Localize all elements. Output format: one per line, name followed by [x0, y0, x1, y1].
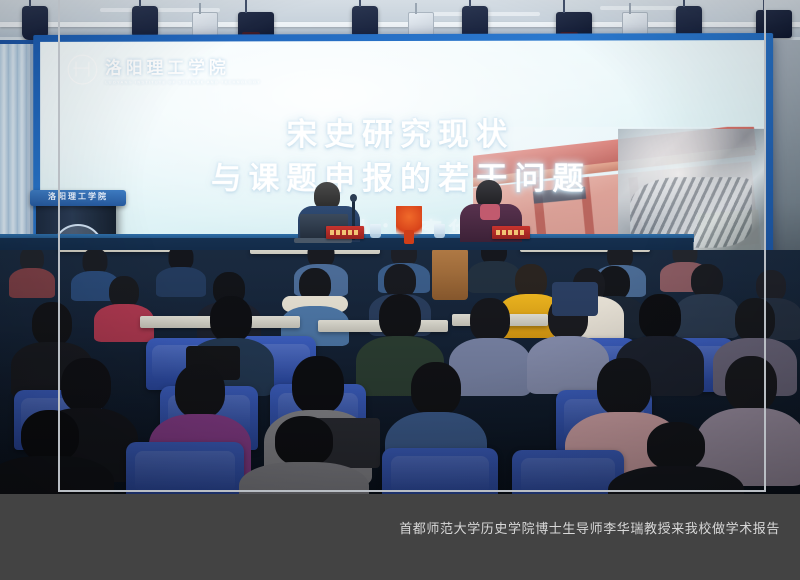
- handbag-brown: [432, 250, 468, 300]
- slide-title: 宋史研究现状 与课题申报的若干问题: [40, 113, 766, 202]
- slide-university-logo: 洛阳理工学院 LUOYANG INSTITUTE OF SCIENCE AND …: [68, 53, 261, 84]
- nameplate-left: [326, 226, 364, 239]
- fresnel-light-icon: [192, 12, 218, 36]
- water-cup: [370, 224, 381, 238]
- lectern-top: 洛阳理工学院: [30, 190, 126, 206]
- slide-title-line2: 与课题申报的若干问题: [40, 157, 766, 202]
- water-cup: [434, 224, 445, 238]
- university-seal-icon: [68, 54, 98, 84]
- flower-arrangement: [396, 206, 422, 242]
- audience-member: [244, 416, 364, 494]
- audience-member: [612, 422, 740, 494]
- news-photo: 洛阳理工学院 LUOYANG INSTITUTE OF SCIENCE AND …: [0, 0, 800, 494]
- audience-member: [0, 410, 110, 494]
- backpack: [552, 282, 598, 316]
- slide-title-line1: 宋史研究现状: [286, 117, 514, 152]
- lecture-chair: [126, 442, 244, 494]
- screenshot-root: 洛阳理工学院 LUOYANG INSTITUTE OF SCIENCE AND …: [0, 0, 800, 580]
- audience-member: [96, 276, 152, 338]
- audience-member: [10, 250, 54, 294]
- photo-caption: 首都师范大学历史学院博士生导师李华瑞教授来我校做学术报告: [0, 518, 780, 537]
- nameplate-right: [492, 226, 530, 239]
- lectern-label: 洛阳理工学院: [30, 191, 126, 202]
- audience-member: [158, 250, 204, 294]
- lecture-chair: [382, 448, 498, 494]
- caption-bar: 首都师范大学历史学院博士生导师李华瑞教授来我校做学术报告: [0, 494, 800, 580]
- slide-logo-subtitle: LUOYANG INSTITUTE OF SCIENCE AND TECHNOL…: [105, 79, 261, 84]
- slide-logo-name: 洛阳理工学院: [105, 58, 230, 77]
- audience-area: [0, 250, 800, 494]
- fresnel-light-icon: [408, 12, 434, 36]
